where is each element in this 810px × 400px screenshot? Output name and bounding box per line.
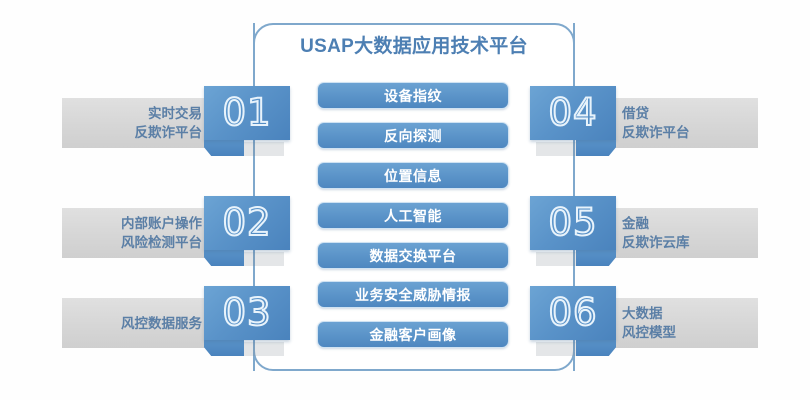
ribbon-number: 05 (548, 203, 597, 243)
side-item-label: 大数据 风控模型 (622, 304, 676, 342)
platform-frame (253, 23, 575, 371)
ribbon-badge[interactable]: 04 (530, 86, 616, 140)
ribbon-tail-shadow (238, 142, 284, 156)
side-item-04[interactable]: 借贷 反欺诈平台 04 (530, 86, 758, 148)
capability-pill-4[interactable]: 人工智能 (317, 202, 509, 229)
ribbon-badge[interactable]: 01 (204, 86, 290, 140)
capability-pill-5[interactable]: 数据交换平台 (317, 242, 509, 269)
capability-pill-1[interactable]: 设备指纹 (317, 82, 509, 109)
ribbon-tail (204, 140, 244, 156)
capability-pill-7[interactable]: 金融客户画像 (317, 321, 509, 348)
ribbon-tail (204, 250, 244, 266)
ribbon-number: 03 (222, 293, 271, 333)
side-item-05[interactable]: 金融 反欺诈云库 05 (530, 196, 758, 258)
capability-pill-label: 反向探测 (384, 126, 442, 146)
ribbon-tail (576, 340, 616, 356)
capability-pill-label: 设备指纹 (384, 86, 442, 106)
side-item-label: 金融 反欺诈云库 (622, 214, 690, 252)
ribbon-tail-shadow (238, 252, 284, 266)
ribbon-badge[interactable]: 05 (530, 196, 616, 250)
capability-pill-label: 人工智能 (384, 206, 442, 226)
capability-pill-3[interactable]: 位置信息 (317, 162, 509, 189)
ribbon-badge[interactable]: 06 (530, 286, 616, 340)
label-plate: 大数据 风控模型 (600, 298, 758, 348)
capability-pill-label: 数据交换平台 (370, 246, 457, 266)
side-item-06[interactable]: 大数据 风控模型 06 (530, 286, 758, 348)
label-plate: 实时交易 反欺诈平台 (62, 98, 220, 148)
capability-pill-label: 位置信息 (384, 166, 442, 186)
ribbon-tail (204, 340, 244, 356)
capability-pill-label: 金融客户画像 (370, 325, 457, 345)
page-title: USAP大数据应用技术平台 (253, 34, 575, 60)
ribbon-number: 01 (222, 93, 271, 133)
capability-pill-label: 业务安全威胁情报 (355, 285, 471, 305)
side-item-label: 借贷 反欺诈平台 (622, 104, 690, 142)
side-item-label: 内部账户操作 风险检测平台 (121, 214, 202, 252)
diagram-canvas: USAP大数据应用技术平台 设备指纹 反向探测 位置信息 人工智能 数据交换平台… (0, 0, 810, 400)
label-plate: 金融 反欺诈云库 (600, 208, 758, 258)
side-item-label: 风控数据服务 (121, 314, 202, 333)
ribbon-tail-shadow (536, 142, 582, 156)
ribbon-badge[interactable]: 03 (204, 286, 290, 340)
ribbon-tail (576, 140, 616, 156)
ribbon-tail-shadow (238, 342, 284, 356)
label-plate: 风控数据服务 (62, 298, 220, 348)
side-item-02[interactable]: 内部账户操作 风险检测平台 02 (62, 196, 290, 258)
label-plate: 内部账户操作 风险检测平台 (62, 208, 220, 258)
capability-pill-2[interactable]: 反向探测 (317, 122, 509, 149)
ribbon-tail (576, 250, 616, 266)
ribbon-number: 06 (548, 293, 597, 333)
side-item-label: 实时交易 反欺诈平台 (135, 104, 203, 142)
ribbon-badge[interactable]: 02 (204, 196, 290, 250)
ribbon-number: 04 (548, 93, 597, 133)
side-item-01[interactable]: 实时交易 反欺诈平台 01 (62, 86, 290, 148)
ribbon-tail-shadow (536, 342, 582, 356)
ribbon-number: 02 (222, 203, 271, 243)
capability-pill-6[interactable]: 业务安全威胁情报 (317, 281, 509, 308)
label-plate: 借贷 反欺诈平台 (600, 98, 758, 148)
side-item-03[interactable]: 风控数据服务 03 (62, 286, 290, 348)
ribbon-tail-shadow (536, 252, 582, 266)
